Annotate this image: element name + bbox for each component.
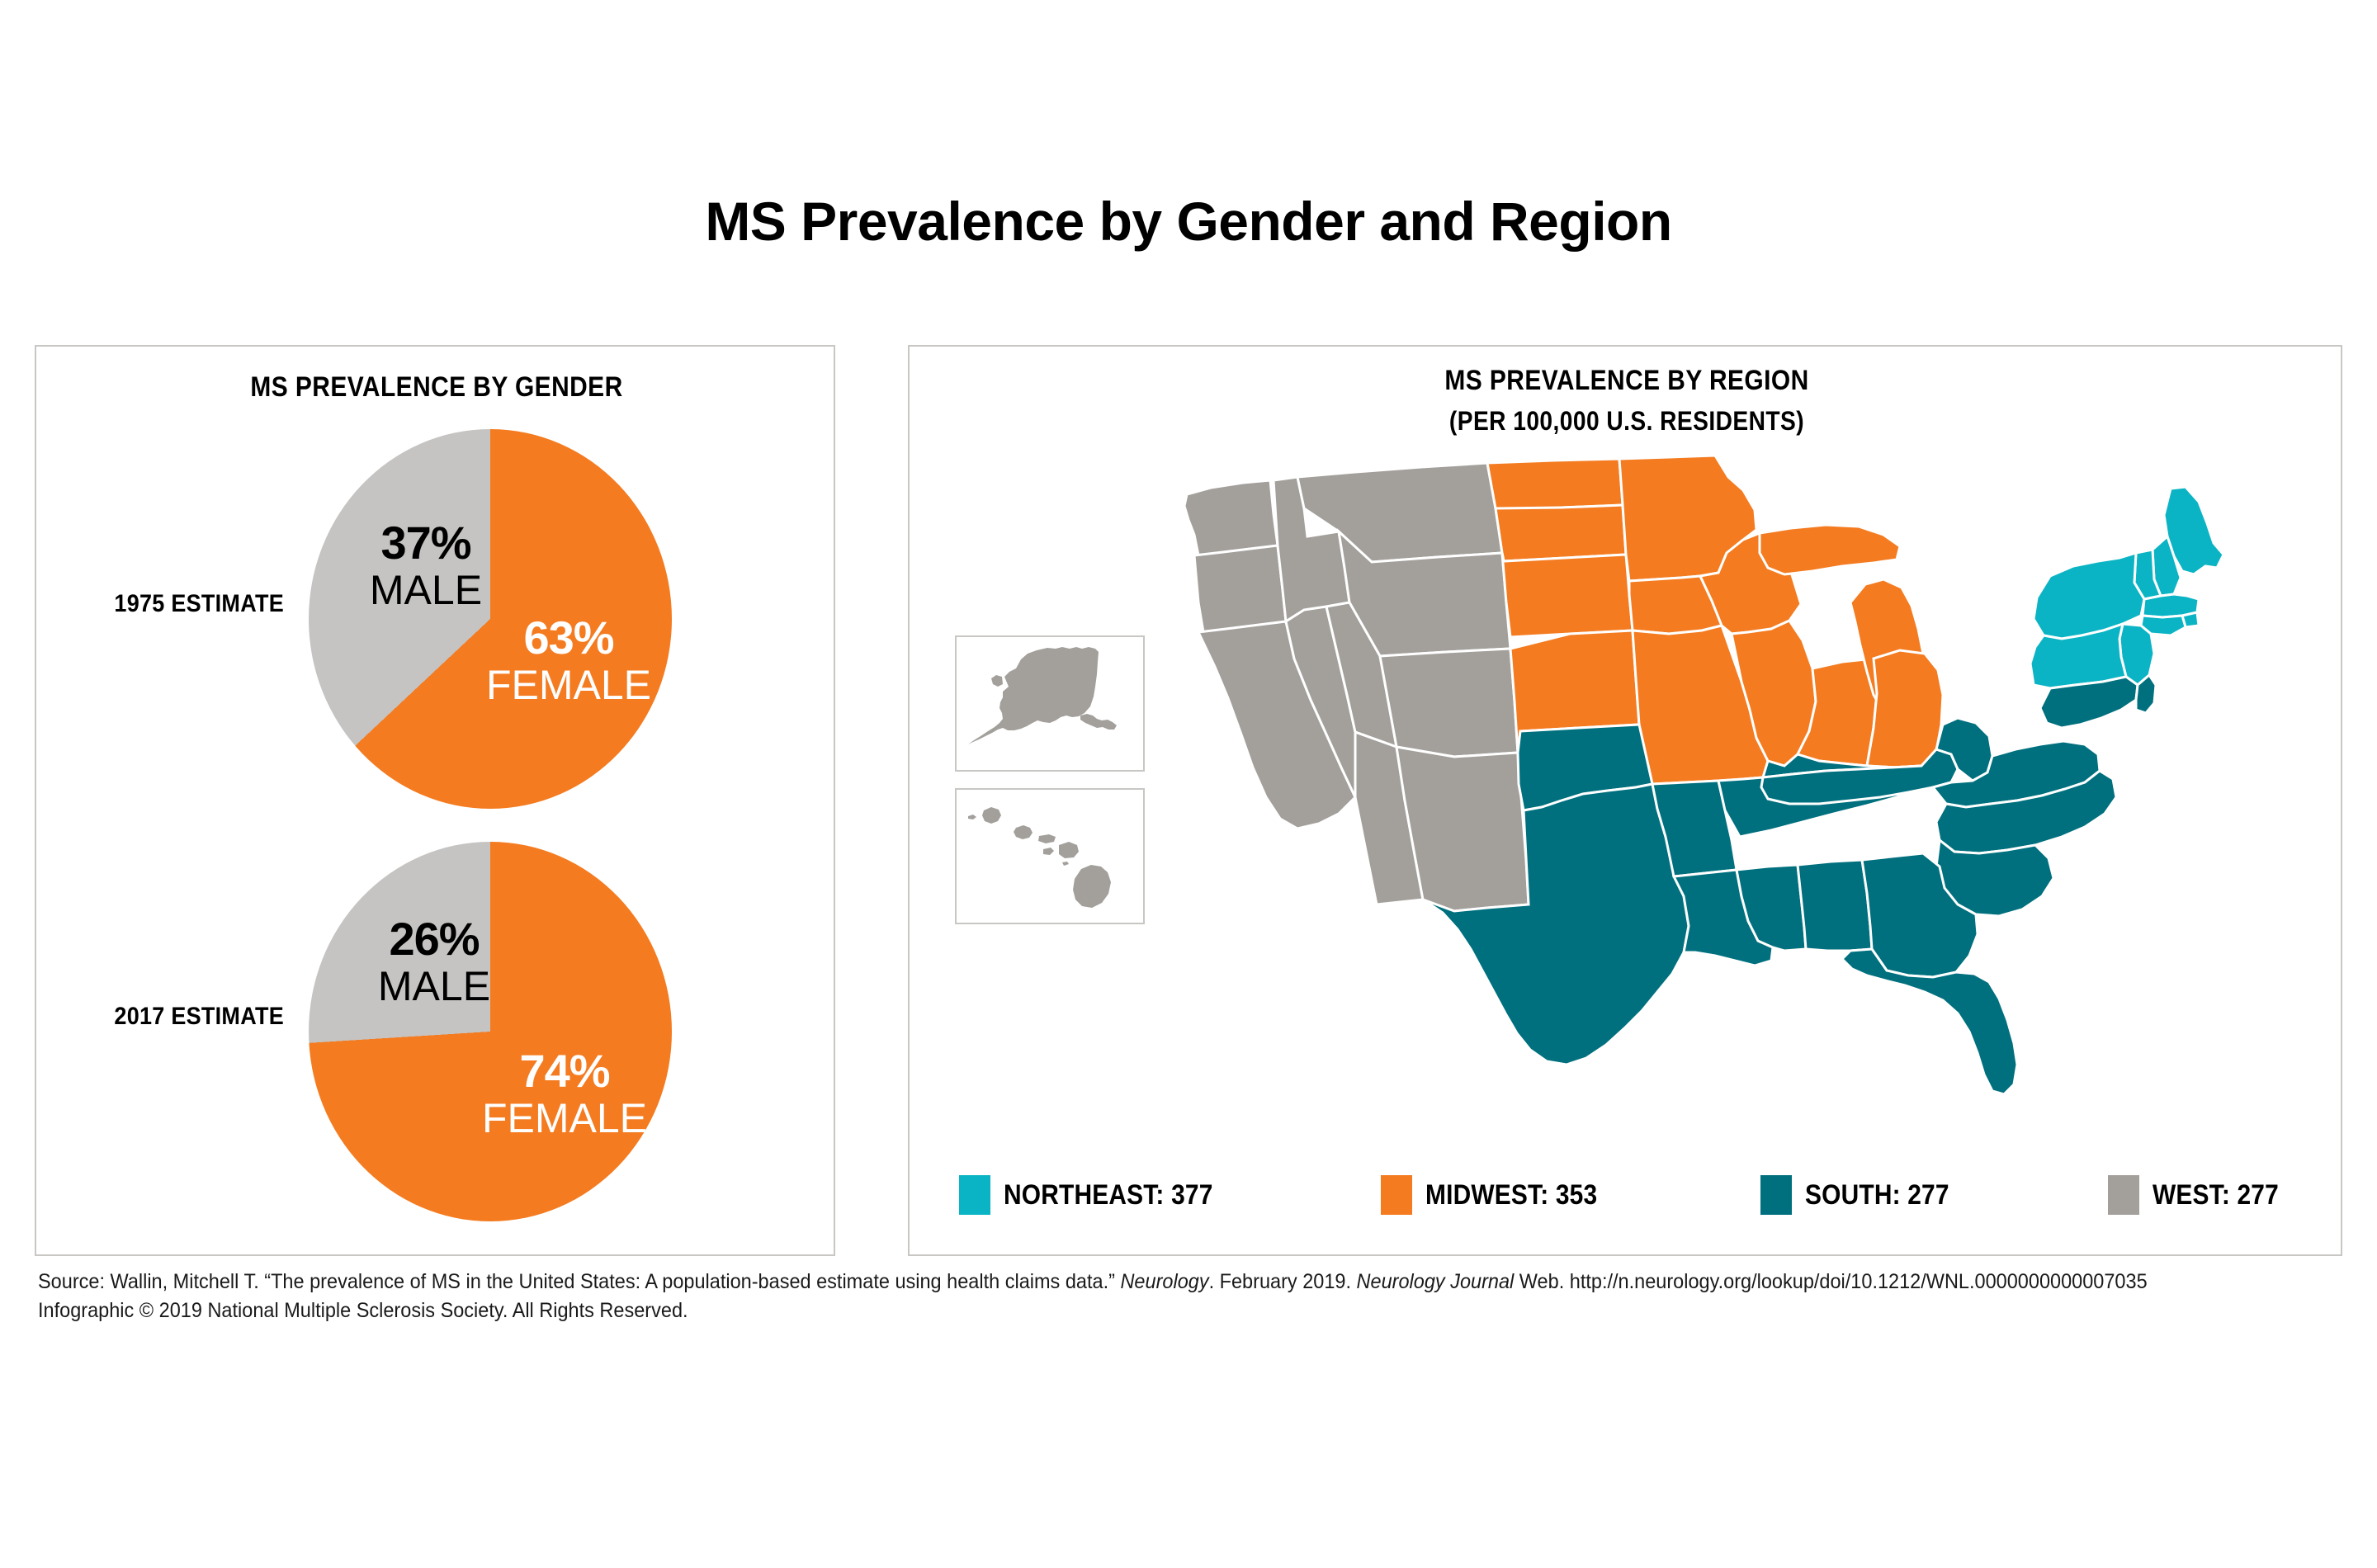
pie-1975-male-word: MALE	[343, 569, 508, 611]
legend-value-northeast: 377	[1171, 1179, 1212, 1211]
legend-swatch-northeast	[959, 1175, 990, 1215]
legend-swatch-midwest	[1381, 1175, 1412, 1215]
legend-label-west: WEST:	[2153, 1179, 2237, 1211]
region-panel: MS PREVALENCE BY REGION (PER 100,000 U.S…	[908, 345, 2342, 1256]
legend-item-south[interactable]: SOUTH: 277	[1760, 1175, 1969, 1215]
source-line-1: Source: Wallin, Mitchell T. “The prevale…	[38, 1268, 2195, 1296]
pie-1975-female-label: 63% FEMALE	[474, 615, 664, 706]
pie-2017-graphic	[309, 842, 672, 1221]
source-line1-part-a: Source: Wallin, Mitchell T. “The prevale…	[38, 1270, 1120, 1293]
region-panel-heading: MS PREVALENCE BY REGION	[995, 365, 2257, 397]
page-title: MS Prevalence by Gender and Region	[0, 190, 2377, 253]
pie-2017-female-percent: 74%	[470, 1048, 659, 1094]
legend-label-midwest: MIDWEST:	[1425, 1179, 1556, 1211]
source-line1-journal-1: Neurology	[1120, 1270, 1208, 1293]
source-line1-journal-2: Neurology Journal	[1357, 1270, 1515, 1293]
source-note: Source: Wallin, Mitchell T. “The prevale…	[38, 1268, 2195, 1325]
legend-swatch-west	[2108, 1175, 2139, 1215]
source-line1-part-c: Web. http://n.neurology.org/lookup/doi/1…	[1514, 1270, 2147, 1293]
gender-panel-heading: MS PREVALENCE BY GENDER	[84, 371, 789, 404]
legend-text-south: SOUTH: 277	[1805, 1179, 1949, 1211]
pie-1975-female-word: FEMALE	[474, 664, 664, 706]
pie-2017-female-label: 74% FEMALE	[470, 1048, 659, 1139]
legend-item-midwest[interactable]: MIDWEST: 353	[1381, 1175, 1621, 1215]
region-panel-subheading: (PER 100,000 U.S. RESIDENTS)	[995, 406, 2257, 437]
source-line-2: Infographic © 2019 National Multiple Scl…	[38, 1296, 2195, 1325]
legend-text-northeast: NORTHEAST: 377	[1004, 1179, 1213, 1211]
pie-2017-male-word: MALE	[352, 966, 517, 1007]
legend-item-northeast[interactable]: NORTHEAST: 377	[959, 1175, 1241, 1215]
pie-2017-estimate-label: 2017 ESTIMATE	[76, 1003, 284, 1031]
legend-text-midwest: MIDWEST: 353	[1425, 1179, 1597, 1211]
gender-panel: MS PREVALENCE BY GENDER 1975 ESTIMATE 37…	[35, 345, 835, 1256]
legend-label-south: SOUTH:	[1805, 1179, 1907, 1211]
pie-1975-male-label: 37% MALE	[343, 520, 508, 611]
us-contiguous-map-svg	[910, 437, 2344, 1131]
pie-chart-1975: 1975 ESTIMATE 37% MALE 63% FEMALE	[36, 413, 837, 825]
legend-swatch-south	[1760, 1175, 1792, 1215]
legend-value-midwest: 353	[1556, 1179, 1597, 1211]
pie-2017-female-word: FEMALE	[470, 1098, 659, 1139]
legend-item-west[interactable]: WEST: 277	[2108, 1175, 2296, 1215]
map-region-west	[1184, 463, 1529, 911]
legend-text-west: WEST: 277	[2153, 1179, 2279, 1211]
pie-1975-male-percent: 37%	[343, 520, 508, 566]
legend-value-west: 277	[2238, 1179, 2279, 1211]
pie-2017-male-percent: 26%	[352, 916, 517, 962]
us-region-map	[910, 437, 2344, 1131]
legend-value-south: 277	[1907, 1179, 1949, 1211]
map-region-northeast	[2030, 487, 2223, 688]
pie-2017-male-label: 26% MALE	[352, 916, 517, 1007]
pie-chart-2017: 2017 ESTIMATE 26% MALE 74% FEMALE	[36, 825, 837, 1238]
pie-1975-female-percent: 63%	[474, 615, 664, 661]
legend-label-northeast: NORTHEAST:	[1004, 1179, 1171, 1211]
map-legend: NORTHEAST: 377 MIDWEST: 353 SOUTH: 277 W…	[959, 1175, 2296, 1215]
source-line1-part-b: . February 2019.	[1209, 1270, 1357, 1293]
pie-1975-estimate-label: 1975 ESTIMATE	[76, 590, 284, 618]
